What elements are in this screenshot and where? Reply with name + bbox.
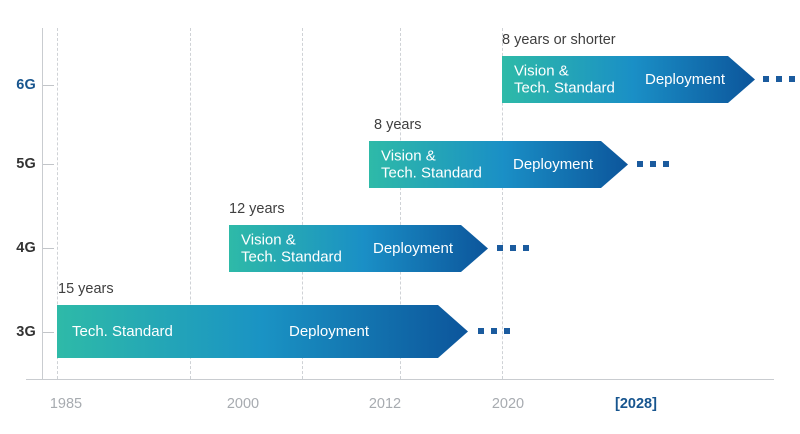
duration-label-5g: 8 years — [374, 117, 422, 133]
trailing-dots-3g — [478, 328, 510, 334]
duration-label-6g: 8 years or shorter — [502, 32, 616, 48]
y-tick-mark-6g — [43, 85, 54, 86]
trailing-dots-5g — [637, 161, 669, 167]
dot-icon — [763, 76, 769, 82]
timeline-bar-6g: Vision & Tech. Standard Deployment — [502, 56, 755, 103]
telecom-generation-timeline-chart: 3G 4G 5G 6G 1985 2000 2012 2020 [2028] 1… — [0, 0, 800, 434]
dot-icon — [650, 161, 656, 167]
dot-icon — [497, 245, 503, 251]
timeline-bar-3g-shape — [57, 305, 468, 358]
dot-icon — [776, 76, 782, 82]
trailing-dots-4g — [497, 245, 529, 251]
timeline-bar-6g-shape — [502, 56, 755, 103]
y-axis-line — [42, 28, 43, 379]
x-tick-label-2028: [2028] — [615, 396, 657, 412]
dot-icon — [637, 161, 643, 167]
y-tick-mark-3g — [43, 332, 54, 333]
y-tick-label-3g: 3G — [16, 324, 36, 340]
x-tick-label-2012: 2012 — [369, 396, 401, 412]
duration-label-3g: 15 years — [58, 281, 114, 297]
x-axis-line — [26, 379, 774, 380]
dot-icon — [789, 76, 795, 82]
dot-icon — [491, 328, 497, 334]
x-tick-label-1985: 1985 — [50, 396, 82, 412]
duration-label-4g: 12 years — [229, 201, 285, 217]
x-tick-label-2020: 2020 — [492, 396, 524, 412]
timeline-bar-4g: Vision & Tech. Standard Deployment — [229, 225, 488, 272]
dot-icon — [504, 328, 510, 334]
timeline-bar-4g-shape — [229, 225, 488, 272]
timeline-bar-5g: Vision & Tech. Standard Deployment — [369, 141, 628, 188]
y-tick-label-4g: 4G — [16, 240, 36, 256]
x-tick-label-2000: 2000 — [227, 396, 259, 412]
dot-icon — [510, 245, 516, 251]
dot-icon — [478, 328, 484, 334]
timeline-bar-5g-shape — [369, 141, 628, 188]
dot-icon — [663, 161, 669, 167]
dot-icon — [523, 245, 529, 251]
y-tick-mark-5g — [43, 164, 54, 165]
y-tick-label-5g: 5G — [16, 156, 36, 172]
trailing-dots-6g — [763, 76, 795, 82]
y-tick-mark-4g — [43, 248, 54, 249]
timeline-bar-3g: Tech. Standard Deployment — [57, 305, 468, 358]
y-tick-label-6g: 6G — [16, 77, 36, 93]
